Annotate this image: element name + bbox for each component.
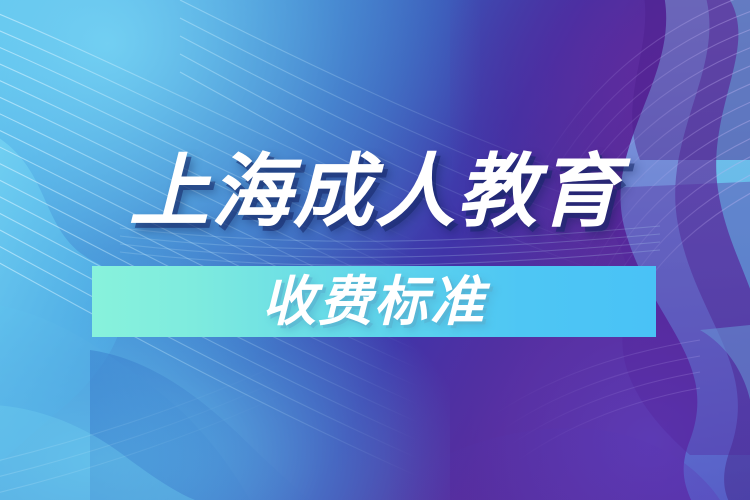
background-line-texture xyxy=(0,0,750,500)
line-family-top-left xyxy=(0,0,520,500)
page-title: 上海成人教育 xyxy=(0,152,750,232)
line-family-bottom-right xyxy=(460,340,700,488)
promo-banner: 上海成人教育 收费标准 xyxy=(0,0,750,500)
line-family-bottom-left xyxy=(0,340,330,500)
subtitle-text: 收费标准 xyxy=(92,262,656,342)
